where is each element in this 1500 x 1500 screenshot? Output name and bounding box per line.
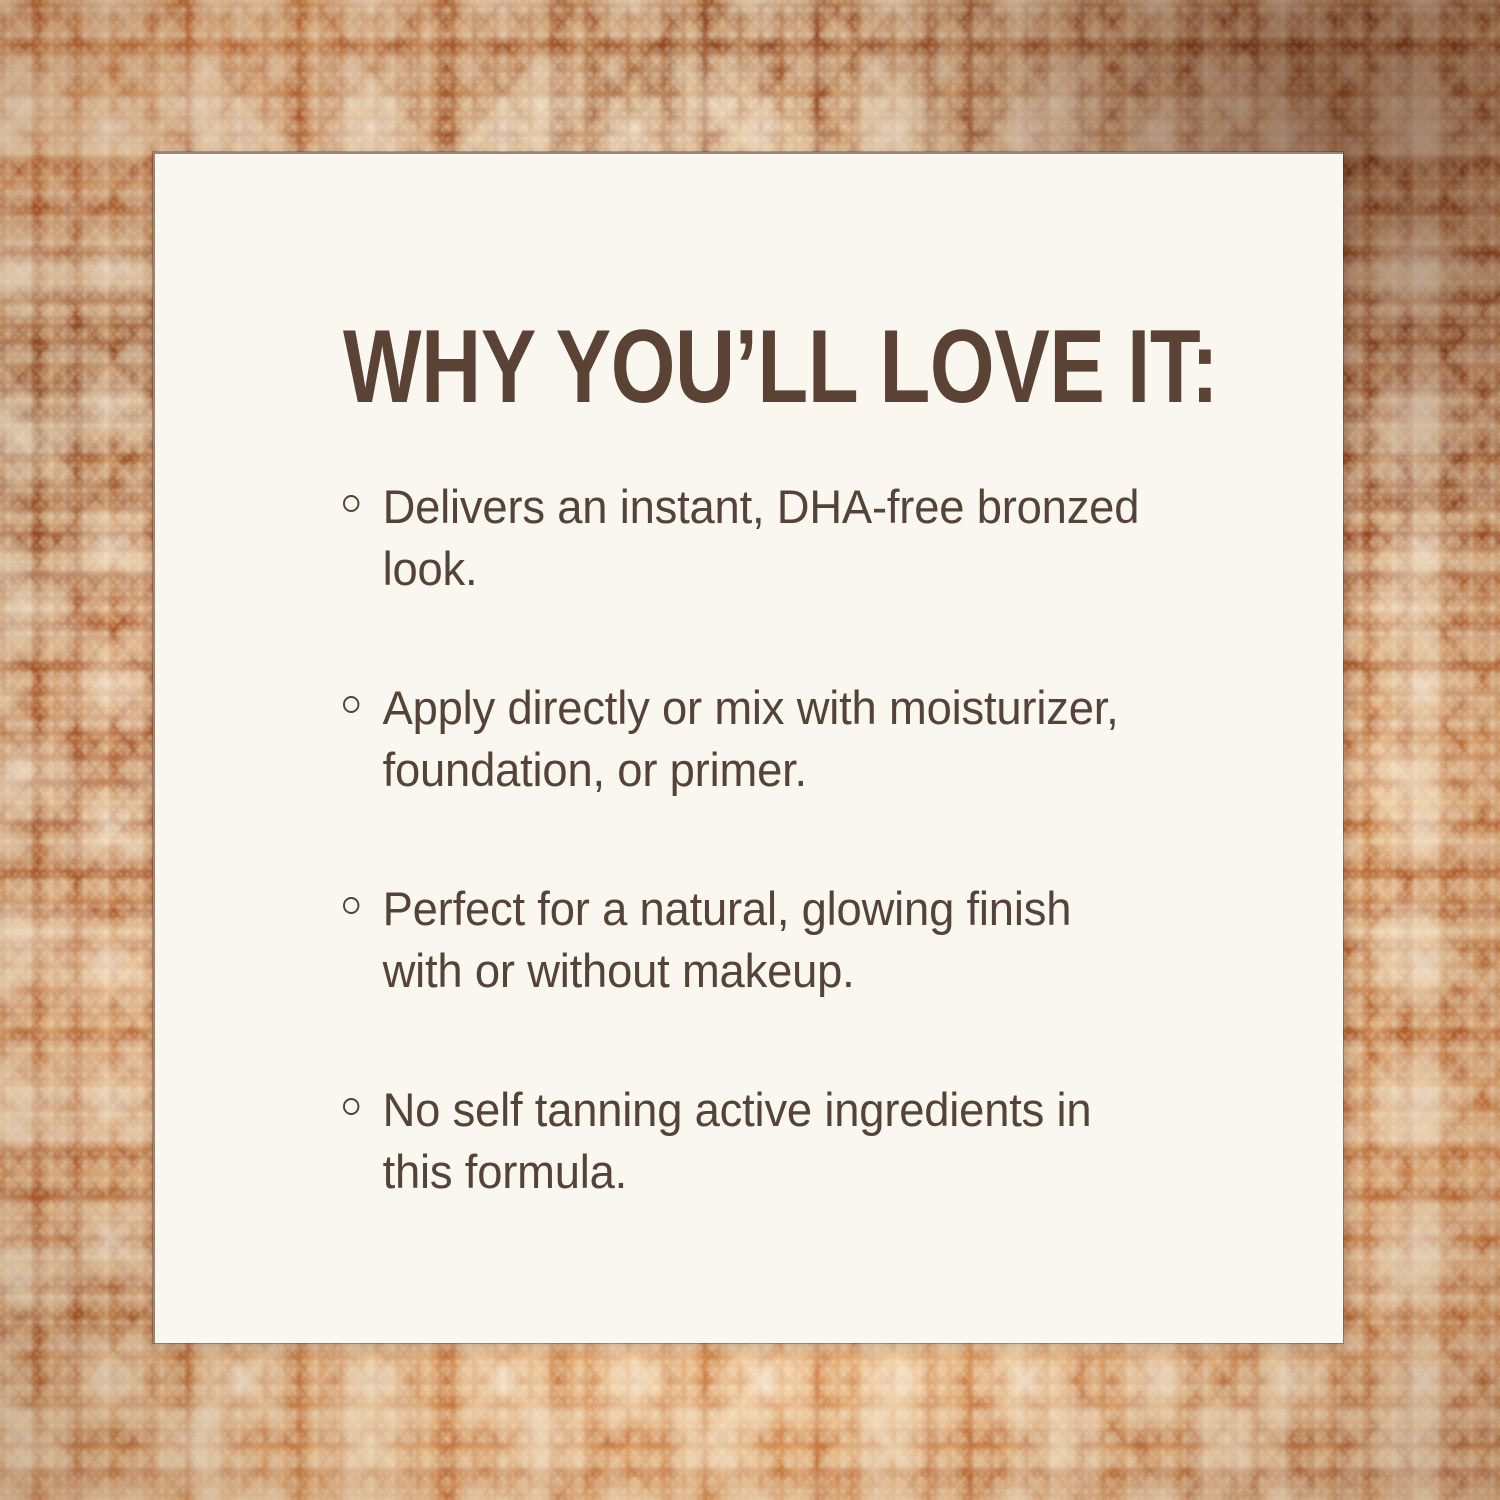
content-card: WHY YOU’LL LOVE IT: Delivers an instant,… [153, 152, 1343, 1343]
product-callout-graphic: WHY YOU’LL LOVE IT: Delivers an instant,… [0, 0, 1500, 1500]
page-title: WHY YOU’LL LOVE IT: [343, 320, 1095, 416]
list-item-label: No self tanning active ingredients in th… [383, 1079, 1145, 1204]
open-circle-bullet-icon [343, 696, 359, 713]
list-item-label: Perfect for a natural, glowing finish wi… [383, 878, 1145, 1003]
list-item: No self tanning active ingredients in th… [343, 1079, 1145, 1204]
list-item: Delivers an instant, DHA-free bronzed lo… [343, 476, 1145, 601]
list-item: Perfect for a natural, glowing finish wi… [343, 878, 1145, 1003]
open-circle-bullet-icon [343, 897, 359, 914]
open-circle-bullet-icon [343, 495, 359, 512]
card-content: WHY YOU’LL LOVE IT: Delivers an instant,… [343, 320, 1283, 1204]
list-item: Apply directly or mix with moisturizer, … [343, 677, 1145, 802]
list-item-label: Delivers an instant, DHA-free bronzed lo… [383, 476, 1145, 601]
list-item-label: Apply directly or mix with moisturizer, … [383, 677, 1145, 802]
benefits-list: Delivers an instant, DHA-free bronzed lo… [343, 476, 1283, 1204]
open-circle-bullet-icon [343, 1098, 359, 1115]
